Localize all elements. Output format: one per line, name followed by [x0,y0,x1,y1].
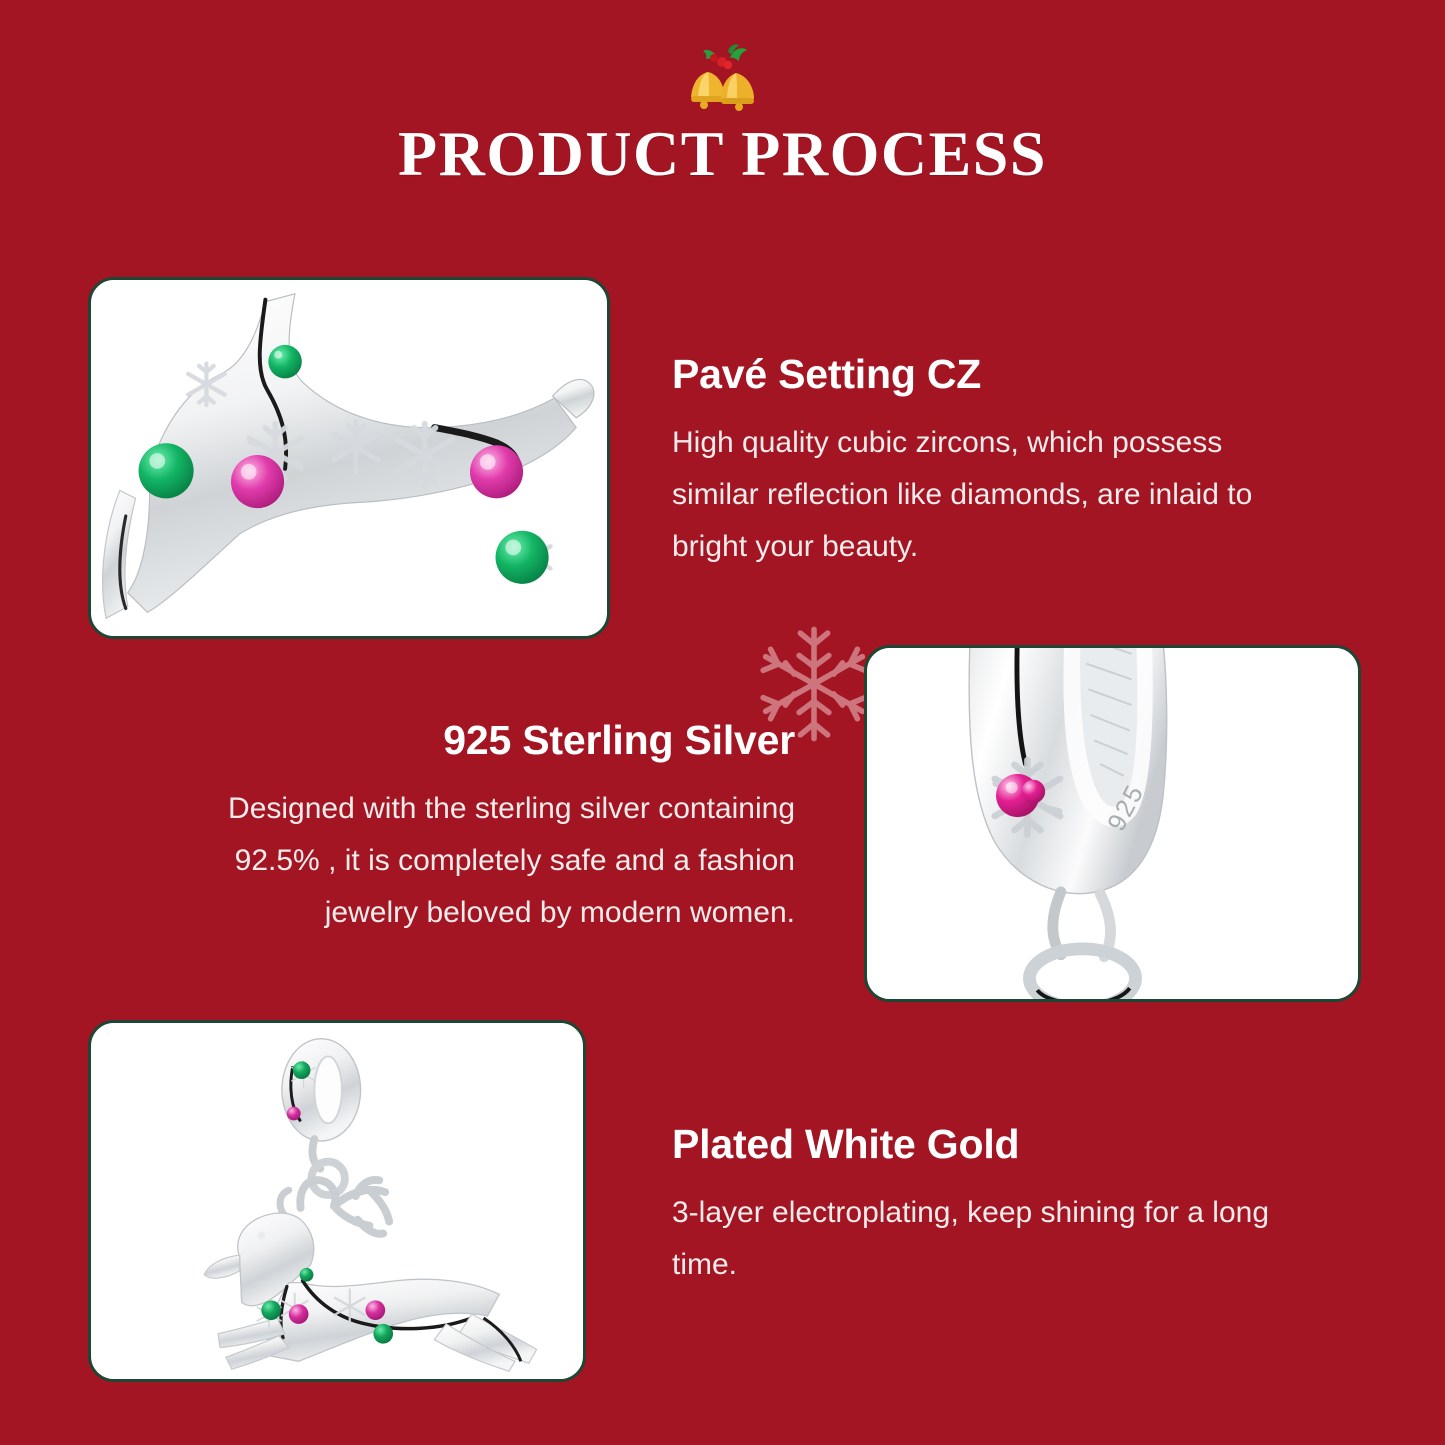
reindeer-charm-closeup-photo[interactable] [88,277,610,639]
cz-stone-green [496,531,549,584]
feature-heading: 925 Sterling Silver [150,718,795,763]
cz-stone-pink [470,445,523,498]
christmas-bells-icon [678,0,768,114]
feature-heading: Pavé Setting CZ [672,352,1312,397]
feature-block-plated-white-gold: Plated White Gold 3-layer electroplating… [672,1122,1292,1291]
page-title: PRODUCT PROCESS [0,114,1445,187]
cz-stone-green [139,443,194,498]
reindeer-closeup-illustration [91,280,607,636]
charm-bail-925-stamp-photo[interactable]: 925 [864,645,1361,1002]
feature-body: 3-layer electroplating, keep shining for… [672,1187,1292,1291]
cz-stone-pink [287,1107,301,1121]
charm-bail-illustration: 925 [867,648,1358,999]
cz-stone-green [300,1268,314,1282]
cz-stone-green [261,1300,281,1320]
page-header: PRODUCT PROCESS [0,0,1445,187]
cz-stone-pink [289,1304,309,1324]
cz-stone-pink [231,455,284,508]
cz-stone-green [373,1324,393,1344]
feature-block-925-sterling-silver: 925 Sterling Silver Designed with the st… [150,718,795,940]
cz-stone-pink [366,1300,386,1320]
feature-block-pave-setting-cz: Pavé Setting CZ High quality cubic zirco… [672,352,1312,574]
full-pendant-illustration [91,1023,583,1379]
cz-stone-green [268,345,301,378]
cz-stone-green [293,1061,311,1079]
full-reindeer-pendant-photo[interactable] [88,1020,586,1382]
feature-body: High quality cubic zircons, which posses… [672,417,1312,574]
feature-body: Designed with the sterling silver contai… [150,783,795,940]
feature-heading: Plated White Gold [672,1122,1292,1167]
